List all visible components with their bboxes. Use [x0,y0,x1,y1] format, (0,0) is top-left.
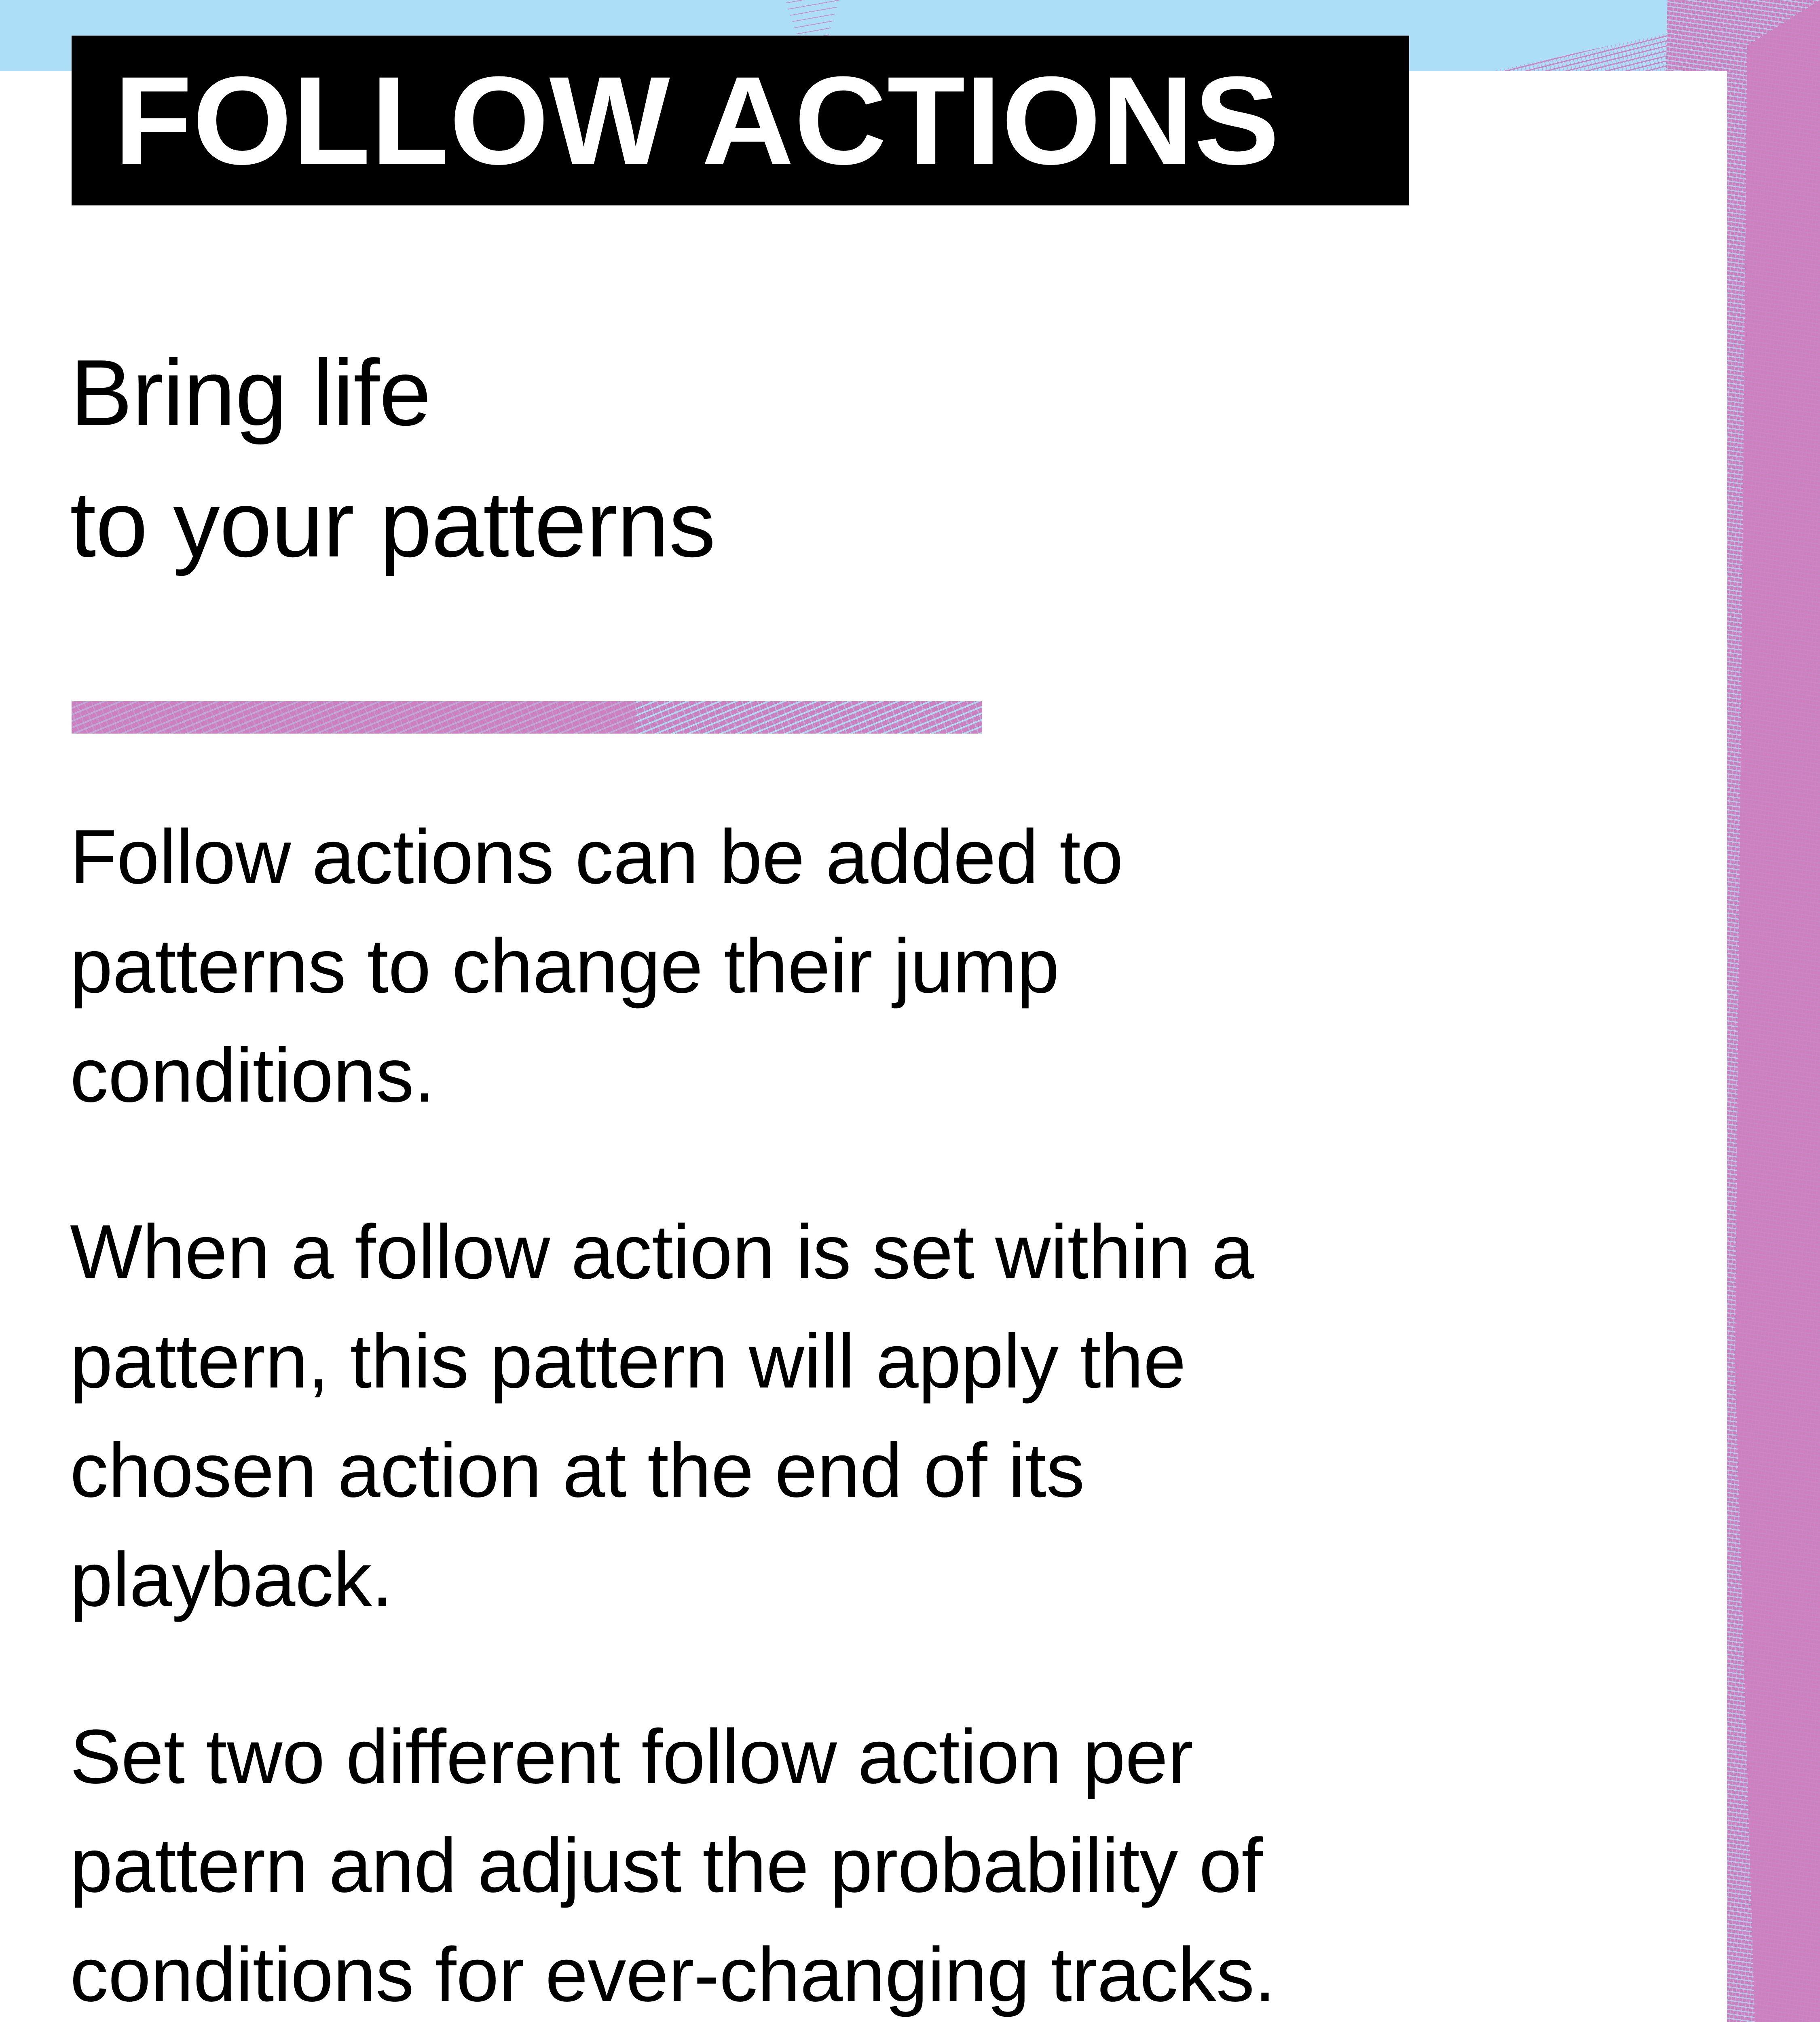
paragraph-3-line-1: Set two different follow action per [70,1703,1586,1812]
paragraph-3: Set two different follow action per patt… [70,1703,1586,2022]
headline-line-1: Bring life [70,328,1526,459]
body-copy: Follow actions can be added to patterns … [70,803,1586,2022]
title-banner: FOLLOW ACTIONS [72,36,1409,205]
paragraph-3-line-3: conditions for ever-changing tracks. [70,1920,1586,2022]
paragraph-1-line-1: Follow actions can be added to [70,803,1586,912]
headline-line-2: to your patterns [70,459,1526,590]
pink-divider-rule [72,701,982,734]
paragraph-2: When a follow action is set within a pat… [70,1198,1586,1634]
page-title: FOLLOW ACTIONS [114,58,1280,183]
paragraph-2-line-2: pattern, this pattern will apply the [70,1307,1586,1416]
headline: Bring life to your patterns [70,328,1526,590]
poster-page: FOLLOW ACTIONS Bring life to your patter… [0,0,1820,2022]
paragraph-2-line-1: When a follow action is set within a [70,1198,1586,1307]
paragraph-1-line-2: patterns to change their jump [70,912,1586,1021]
paragraph-2-line-3: chosen action at the end of its [70,1416,1586,1525]
paragraph-1: Follow actions can be added to patterns … [70,803,1586,1130]
paragraph-3-line-2: pattern and adjust the probability of [70,1811,1586,1920]
paragraph-1-line-3: conditions. [70,1021,1586,1130]
paragraph-2-line-4: playback. [70,1525,1586,1635]
